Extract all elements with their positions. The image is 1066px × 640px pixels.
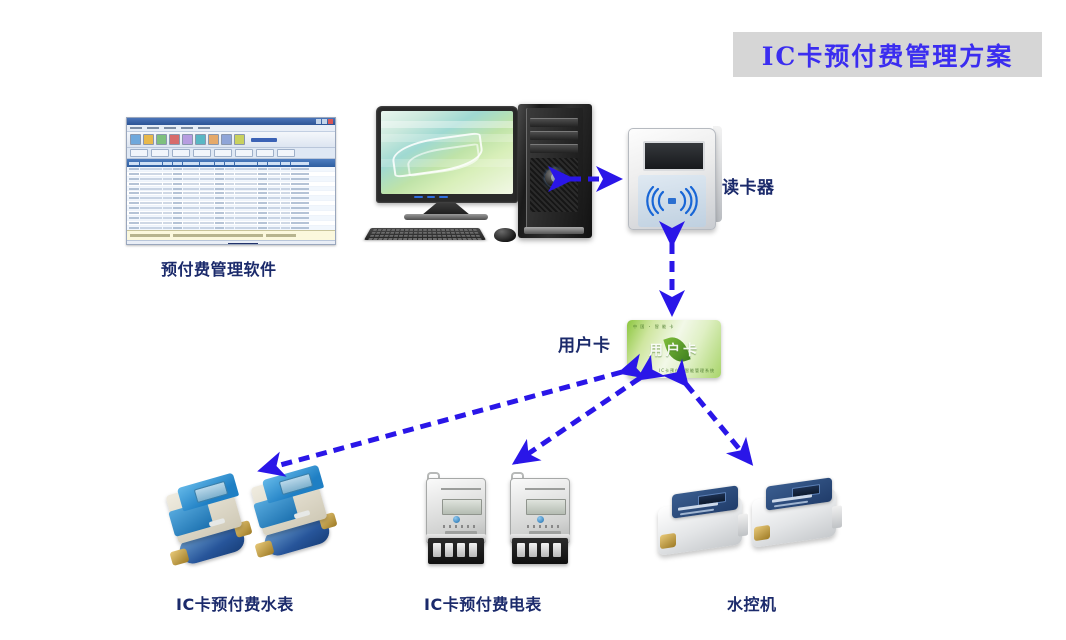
keyboard-icon <box>364 228 486 240</box>
usercard-label: 用户卡 <box>558 331 611 356</box>
desktop-computer-icon <box>358 104 608 252</box>
mouse-icon <box>494 228 516 242</box>
water-meter-label: IC卡预付费水表 <box>176 591 294 615</box>
rfid-wave-icon <box>641 186 703 216</box>
power-button-icon <box>545 168 564 187</box>
water-meter-icon <box>165 478 257 582</box>
electric-meter-label: IC卡预付费电表 <box>424 591 542 615</box>
electric-meter-icon <box>418 472 496 572</box>
pc-tower-icon <box>518 104 592 238</box>
table-row[interactable] <box>127 226 335 230</box>
reader-display <box>643 141 705 171</box>
card-top-text: 中 国 ・ 智 能 卡 <box>633 324 674 330</box>
card-face-text: 用户卡 <box>649 340 700 360</box>
water-controller-icon <box>748 478 844 554</box>
monitor-screen <box>381 111 513 194</box>
software-label: 预付费管理软件 <box>161 256 277 280</box>
software-window-icon <box>126 117 336 245</box>
monitor-indicator-lights <box>414 196 448 199</box>
software-titlebar <box>127 118 335 125</box>
software-data-grid <box>127 167 335 230</box>
arrow-usercard-watercontroller <box>686 384 750 462</box>
diagram-canvas: IC卡预付费管理方案 预付费管理软件 <box>0 0 1066 640</box>
software-window-controls <box>316 119 333 124</box>
page-title: IC卡预付费管理方案 <box>762 37 1014 73</box>
reader-rfid-panel <box>638 175 706 227</box>
title-banner: IC卡预付费管理方案 <box>733 32 1042 77</box>
software-button-bar <box>127 148 335 159</box>
monitor-icon <box>376 106 518 203</box>
card-bottom-text: IC卡预付费智能管理系统 <box>659 368 715 374</box>
water-controller-label: 水控机 <box>727 591 777 615</box>
water-meter-icon <box>250 470 342 574</box>
card-reader-icon <box>628 122 720 232</box>
monitor-base <box>404 214 488 220</box>
software-column-headers <box>127 159 335 167</box>
software-footer-bar <box>127 240 335 245</box>
software-status-bar <box>127 230 335 240</box>
water-controller-icon <box>654 486 750 562</box>
reader-label: 读卡器 <box>722 173 775 198</box>
arrow-usercard-electricmeter <box>516 378 640 462</box>
electric-meter-icon <box>502 472 580 572</box>
software-toolbar <box>127 132 335 148</box>
software-menubar <box>127 125 335 132</box>
ic-card-icon: 中 国 ・ 智 能 卡 用户卡 IC卡预付费智能管理系统 <box>627 320 721 378</box>
arrow-usercard-watermeter <box>262 372 622 470</box>
